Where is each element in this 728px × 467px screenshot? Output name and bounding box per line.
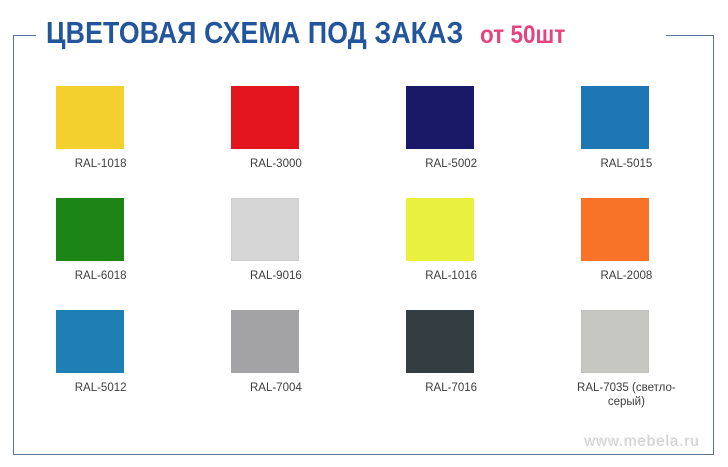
minimum-order-note: от 50шт [480,23,565,48]
color-swatch-item[interactable]: RAL-1018 [13,70,188,182]
color-swatch[interactable] [581,198,649,261]
color-swatch[interactable] [56,198,124,261]
color-swatch[interactable] [56,310,124,373]
page-title: ЦВЕТОВАЯ СХЕМА ПОД ЗАКАЗ [46,17,464,48]
color-swatch-label: RAL-9016 [201,269,351,283]
color-swatch-item[interactable]: RAL-6018 [13,182,188,294]
color-swatch[interactable] [56,86,124,149]
color-swatch-label: RAL-1016 [376,269,526,283]
color-swatch[interactable] [581,310,649,373]
color-swatch-label: RAL-1018 [26,157,176,171]
color-swatch-label: RAL-5012 [26,381,176,395]
color-swatch[interactable] [231,198,299,261]
color-swatch-label: RAL-7016 [376,381,526,395]
color-swatch[interactable] [581,86,649,149]
color-swatch-item[interactable]: RAL-5015 [539,70,714,182]
color-swatch[interactable] [231,310,299,373]
color-swatch-item[interactable]: RAL-3000 [188,70,363,182]
color-swatch-item[interactable]: RAL-1016 [364,182,539,294]
color-swatch-grid: RAL-1018RAL-3000RAL-5002RAL-5015RAL-6018… [13,70,714,420]
header: ЦВЕТОВАЯ СХЕМА ПОД ЗАКАЗ от 50шт [0,17,728,57]
color-swatch-label: RAL-7004 [201,381,351,395]
color-swatch[interactable] [406,198,474,261]
color-swatch-label: RAL-5002 [376,157,526,171]
color-swatch-label: RAL-5015 [551,157,701,171]
color-swatch-label: RAL-3000 [201,157,351,171]
color-swatch-item[interactable]: RAL-7004 [188,294,363,406]
color-swatch-label: RAL-2008 [551,269,701,283]
color-swatch[interactable] [231,86,299,149]
color-swatch[interactable] [406,86,474,149]
site-watermark: www.mebela.ru [584,433,700,450]
color-swatch-item[interactable]: RAL-2008 [539,182,714,294]
color-swatch-item[interactable]: RAL-7035 (светло- серый) [539,294,714,406]
color-swatch-item[interactable]: RAL-7016 [364,294,539,406]
color-swatch-item[interactable]: RAL-9016 [188,182,363,294]
color-swatch-item[interactable]: RAL-5012 [13,294,188,406]
color-swatch[interactable] [406,310,474,373]
color-swatch-label: RAL-6018 [26,269,176,283]
color-swatch-item[interactable]: RAL-5002 [364,70,539,182]
color-swatch-label: RAL-7035 (светло- серый) [551,381,701,409]
